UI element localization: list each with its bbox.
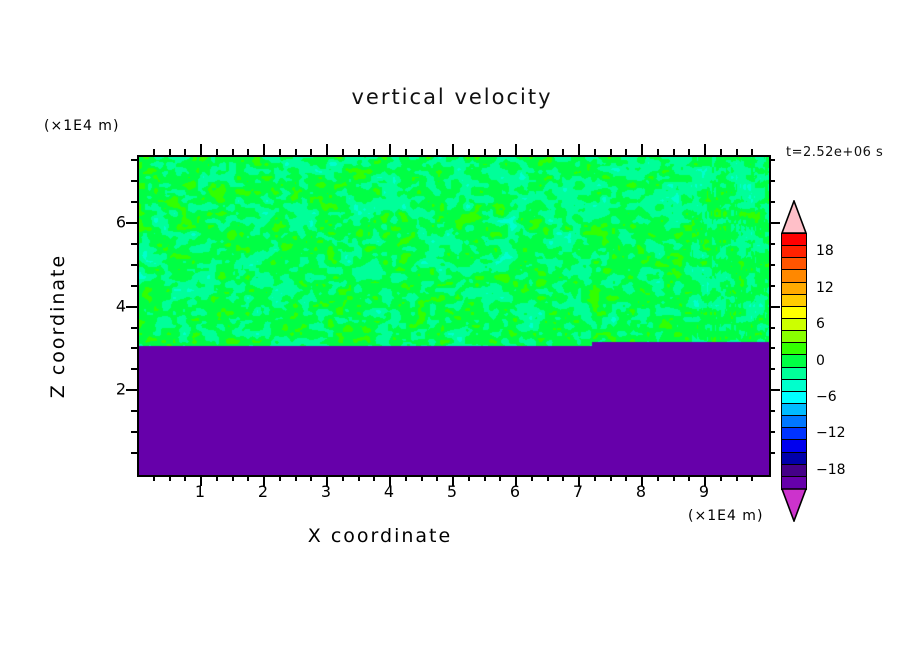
colorbar-cell[interactable]: [782, 355, 806, 367]
x-tick-minor-top: [547, 149, 549, 155]
y-tick-minor-r: [769, 159, 775, 161]
x-tick-minor: [373, 475, 375, 481]
colorbar-tick-label: 6: [816, 316, 825, 332]
colorbar-cell[interactable]: [782, 234, 806, 246]
y-tick-minor: [131, 452, 137, 454]
x-tick-minor-top: [468, 149, 470, 155]
y-tick-label: 4: [96, 296, 126, 315]
x-tick-minor-top: [720, 149, 722, 155]
x-tick-minor: [468, 475, 470, 481]
x-tick-minor-top: [688, 149, 690, 155]
y-tick-minor-r: [769, 368, 775, 370]
x-tick-minor-top: [436, 149, 438, 155]
x-tick-minor: [736, 475, 738, 481]
x-tick-minor: [216, 475, 218, 481]
x-tick-minor-top: [421, 149, 423, 155]
x-tick-minor: [547, 475, 549, 481]
x-tick-minor: [688, 475, 690, 481]
colorbar-cell[interactable]: [782, 416, 806, 428]
x-tick-minor-top: [358, 149, 360, 155]
colorbar-cell[interactable]: [782, 465, 806, 477]
x-tick-minor-top: [169, 149, 171, 155]
x-tick-minor-top: [625, 149, 627, 155]
colorbar-cell[interactable]: [782, 319, 806, 331]
x-tick-label: 9: [699, 482, 709, 501]
y-tick-minor-r: [769, 285, 775, 287]
y-tick-minor-r: [769, 347, 775, 349]
x-tick-major-top: [263, 144, 265, 155]
colorbar-cell[interactable]: [782, 404, 806, 416]
colorbar-tick-label: 0: [816, 353, 825, 369]
colorbar-cell[interactable]: [782, 453, 806, 465]
x-tick-label: 3: [321, 482, 331, 501]
colorbar-over-arrow: [781, 200, 807, 234]
x-tick-minor-top: [610, 149, 612, 155]
colorbar-scale[interactable]: [781, 233, 807, 490]
y-tick-minor: [131, 243, 137, 245]
colorbar-cell[interactable]: [782, 307, 806, 319]
x-tick-minor: [673, 475, 675, 481]
y-tick-major-r: [769, 389, 780, 391]
colorbar-cell[interactable]: [782, 440, 806, 452]
x-tick-minor: [247, 475, 249, 481]
y-tick-minor: [131, 347, 137, 349]
x-tick-minor: [421, 475, 423, 481]
colorbar-cell[interactable]: [782, 380, 806, 392]
x-tick-minor-top: [484, 149, 486, 155]
x-tick-minor: [720, 475, 722, 481]
time-annotation: t=2.52e+06 s: [786, 145, 883, 160]
x-tick-minor-top: [342, 149, 344, 155]
y-axis-title: Z coordinate: [47, 206, 69, 446]
colorbar-cell[interactable]: [782, 392, 806, 404]
colorbar-cell[interactable]: [782, 295, 806, 307]
chart-title: vertical velocity: [0, 85, 904, 109]
colorbar-cell[interactable]: [782, 368, 806, 380]
x-tick-label: 6: [510, 482, 520, 501]
x-tick-label: 5: [447, 482, 457, 501]
x-tick-minor-top: [184, 149, 186, 155]
x-tick-minor-top: [594, 149, 596, 155]
x-tick-minor: [610, 475, 612, 481]
x-tick-minor-top: [531, 149, 533, 155]
x-tick-minor: [295, 475, 297, 481]
y-tick-major: [126, 306, 137, 308]
y-tick-minor-r: [769, 452, 775, 454]
y-tick-minor: [131, 285, 137, 287]
x-tick-label: 8: [636, 482, 646, 501]
x-tick-major-top: [641, 144, 643, 155]
x-tick-major-top: [389, 144, 391, 155]
colorbar-cell[interactable]: [782, 428, 806, 440]
x-tick-label: 7: [573, 482, 583, 501]
x-tick-minor-top: [247, 149, 249, 155]
x-tick-major-top: [704, 144, 706, 155]
y-tick-major: [126, 222, 137, 224]
colorbar-cell[interactable]: [782, 270, 806, 282]
x-tick-major-top: [515, 144, 517, 155]
y-tick-minor: [131, 431, 137, 433]
y-tick-minor-r: [769, 264, 775, 266]
y-tick-minor: [131, 327, 137, 329]
y-tick-minor-r: [769, 327, 775, 329]
x-tick-major-top: [452, 144, 454, 155]
colorbar-cell[interactable]: [782, 246, 806, 258]
y-tick-minor-r: [769, 410, 775, 412]
x-tick-minor-top: [232, 149, 234, 155]
x-tick-minor-top: [279, 149, 281, 155]
colorbar-under-arrow: [781, 488, 807, 522]
y-tick-minor-r: [769, 431, 775, 433]
y-tick-major-r: [769, 222, 780, 224]
colorbar-cell[interactable]: [782, 258, 806, 270]
x-tick-minor-top: [562, 149, 564, 155]
y-tick-label: 2: [96, 380, 126, 399]
x-tick-minor-top: [751, 149, 753, 155]
y-tick-minor: [131, 201, 137, 203]
contour-field: [139, 157, 769, 475]
colorbar-tick-label: −18: [816, 462, 846, 478]
x-tick-minor: [358, 475, 360, 481]
colorbar-cell[interactable]: [782, 283, 806, 295]
y-tick-major: [126, 389, 137, 391]
x-axis-title: X coordinate: [0, 525, 760, 547]
y-axis-unit-label: (×1E4 m): [44, 118, 119, 134]
colorbar-tick-label: −6: [816, 389, 837, 405]
x-tick-label: 1: [195, 482, 205, 501]
plot-area[interactable]: [137, 155, 771, 477]
colorbar-tick-label: 12: [816, 280, 834, 296]
x-tick-minor: [342, 475, 344, 481]
colorbar-tick-label: −12: [816, 425, 846, 441]
x-tick-minor: [279, 475, 281, 481]
x-tick-minor-top: [673, 149, 675, 155]
x-tick-minor: [169, 475, 171, 481]
x-tick-minor-top: [295, 149, 297, 155]
x-tick-minor: [405, 475, 407, 481]
x-tick-minor: [310, 475, 312, 481]
y-tick-minor-r: [769, 201, 775, 203]
x-tick-minor-top: [310, 149, 312, 155]
x-axis-unit-label: (×1E4 m): [688, 508, 763, 524]
y-tick-minor-r: [769, 180, 775, 182]
y-tick-minor-r: [769, 243, 775, 245]
x-tick-minor-top: [657, 149, 659, 155]
y-tick-major-r: [769, 306, 780, 308]
y-tick-minor: [131, 410, 137, 412]
x-tick-minor-top: [373, 149, 375, 155]
y-tick-minor: [131, 180, 137, 182]
x-tick-major-top: [200, 144, 202, 155]
x-tick-minor: [232, 475, 234, 481]
x-tick-minor: [484, 475, 486, 481]
x-tick-minor: [436, 475, 438, 481]
x-tick-minor-top: [499, 149, 501, 155]
y-tick-label: 6: [96, 212, 126, 231]
x-tick-label: 2: [258, 482, 268, 501]
x-tick-minor: [751, 475, 753, 481]
y-tick-minor: [131, 368, 137, 370]
colorbar-cell[interactable]: [782, 343, 806, 355]
x-tick-minor: [184, 475, 186, 481]
x-tick-minor-top: [216, 149, 218, 155]
x-tick-label: 4: [384, 482, 394, 501]
x-tick-major-top: [578, 144, 580, 155]
colorbar-tick-label: 18: [816, 243, 834, 259]
x-tick-minor: [531, 475, 533, 481]
colorbar-cell[interactable]: [782, 331, 806, 343]
x-tick-minor: [499, 475, 501, 481]
x-tick-minor: [657, 475, 659, 481]
y-tick-minor: [131, 159, 137, 161]
x-tick-minor-top: [405, 149, 407, 155]
x-tick-minor: [594, 475, 596, 481]
x-tick-major-top: [326, 144, 328, 155]
x-tick-minor: [153, 475, 155, 481]
x-tick-minor-top: [736, 149, 738, 155]
y-tick-minor: [131, 264, 137, 266]
x-tick-minor: [562, 475, 564, 481]
x-tick-minor-top: [153, 149, 155, 155]
x-tick-minor: [625, 475, 627, 481]
